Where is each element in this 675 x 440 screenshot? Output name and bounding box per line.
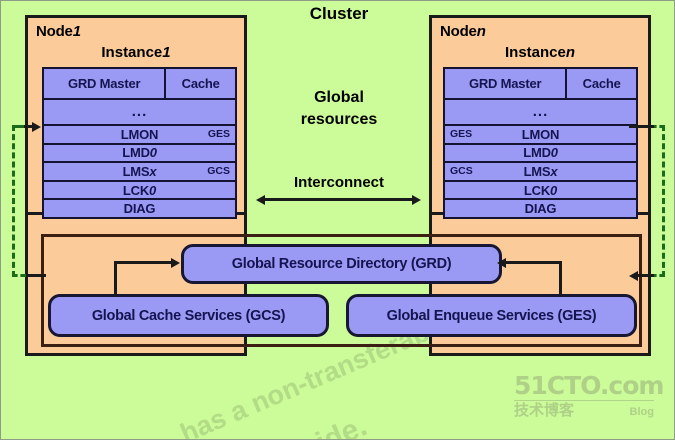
node-right-instance-prefix: Instance	[505, 44, 566, 61]
gcs-to-grd-arrowhead	[171, 258, 180, 268]
node-right-instance-suffix: n	[566, 44, 575, 61]
node-left-row-lmsx: LMSx GCS	[44, 163, 235, 182]
node-left-row-diag: DIAG	[44, 200, 235, 217]
node-left-diag-label: DIAG	[44, 201, 235, 216]
right-feedback-arrowhead-into-frame	[629, 271, 638, 281]
node-left-instance-suffix: 1	[162, 44, 170, 61]
interconnect-arrow-right	[412, 195, 421, 205]
gcs-to-grd-horizontal	[114, 261, 172, 264]
watermark-subtitle-en: Blog	[630, 407, 654, 418]
node-right-row-lmsx: LMSx GCS	[445, 163, 636, 182]
node-left-lmsx-tag-gcs: GCS	[207, 165, 230, 177]
left-feedback-dashed-bottom	[12, 274, 26, 277]
left-feedback-dashed-vertical	[12, 125, 15, 277]
node-right-row-diag: DIAG	[445, 200, 636, 217]
global-resources-label-line1: Global	[254, 89, 424, 107]
node-right-instance-label: Instancen	[432, 44, 648, 61]
watermark-rule	[514, 400, 654, 401]
ges-to-grd-vertical	[559, 261, 562, 297]
node-right-lck0-label: LCK0	[445, 183, 636, 198]
node-left-label-prefix: Node	[36, 23, 73, 40]
left-feedback-lead-bottom	[26, 274, 46, 277]
left-feedback-dashed-top	[12, 125, 24, 128]
node-left-ellipsis-text: ...	[44, 109, 235, 115]
node-right-ellipsis-text: ...	[445, 109, 636, 115]
node-right-process-stack: GRD Master Cache ... LMON GES LMD0 LMSx …	[443, 67, 638, 219]
node-left-row-grdmaster-cache: GRD Master Cache	[44, 69, 235, 100]
node-left-label-suffix: 1	[73, 23, 81, 40]
node-left-row-lck0: LCK0	[44, 182, 235, 201]
node-left-label: Node1	[36, 23, 81, 40]
node-right-cache-cell: Cache	[567, 69, 636, 98]
watermark-brand-text: 51CTO.com	[514, 373, 654, 398]
interconnect-label: Interconnect	[249, 174, 429, 191]
node-left-grd-master-cell: GRD Master	[44, 69, 166, 98]
node-right-diag-label: DIAG	[445, 201, 636, 216]
watermark-subtitle: 技术博客 Blog	[514, 403, 654, 418]
node-left-cache-cell: Cache	[166, 69, 235, 98]
node-left-lmon-tag-ges: GES	[208, 128, 230, 140]
watermark-subtitle-cn: 技术博客	[514, 403, 574, 418]
node-right-row-lck0: LCK0	[445, 182, 636, 201]
node-right-lmsx-tag-gcs: GCS	[450, 165, 473, 177]
node-right-row-lmon: LMON GES	[445, 126, 636, 145]
left-feedback-arrowhead-into-lmon	[32, 122, 41, 132]
gcs-to-grd-vertical	[114, 261, 117, 297]
interconnect-line	[264, 198, 414, 201]
node-left-process-stack: GRD Master Cache ... LMON GES LMD0 LMSx …	[42, 67, 237, 219]
right-feedback-dashed-vertical	[662, 125, 665, 277]
node-left-row-ellipsis: ...	[44, 100, 235, 126]
node-left-row-lmon: LMON GES	[44, 126, 235, 145]
node-right-label: Noden	[440, 23, 486, 40]
node-right-lmon-tag-ges: GES	[450, 128, 472, 140]
gcs-box[interactable]: Global Cache Services (GCS)	[48, 294, 329, 337]
node-left: Node1 Instance1 GRD Master Cache ... LMO…	[25, 15, 247, 215]
node-right-lmon-label: LMON	[445, 127, 636, 142]
watermark-diagonal-line2: t Guide.	[256, 409, 372, 440]
cluster-title: Cluster	[254, 4, 424, 24]
ges-to-grd-horizontal	[506, 261, 562, 264]
node-right-row-ellipsis: ...	[445, 100, 636, 126]
node-right-lmsx-label: LMSx	[445, 164, 636, 179]
node-right-label-suffix: n	[477, 23, 486, 40]
diagram-canvas: has a non-transferable license t Guide. …	[0, 0, 675, 440]
ges-to-grd-arrowhead	[497, 258, 506, 268]
node-right: Noden Instancen GRD Master Cache ... LMO…	[429, 15, 651, 215]
node-left-instance-prefix: Instance	[101, 44, 162, 61]
node-right-row-grdmaster-cache: GRD Master Cache	[445, 69, 636, 100]
node-left-instance-label: Instance1	[28, 44, 244, 61]
node-left-row-lmd0: LMD0	[44, 145, 235, 164]
node-right-label-prefix: Node	[440, 23, 477, 40]
watermark-51cto-logo: 51CTO.com 技术博客 Blog	[514, 373, 654, 418]
node-left-lmon-label: LMON	[44, 127, 235, 142]
node-right-grd-master-cell: GRD Master	[445, 69, 567, 98]
ges-box[interactable]: Global Enqueue Services (GES)	[346, 294, 637, 337]
interconnect-arrow-left	[256, 195, 265, 205]
node-left-lmd0-label: LMD0	[44, 145, 235, 160]
right-feedback-lead-bottom	[638, 274, 654, 277]
node-right-row-lmd0: LMD0	[445, 145, 636, 164]
node-left-lck0-label: LCK0	[44, 183, 235, 198]
node-right-lmd0-label: LMD0	[445, 145, 636, 160]
global-resources-label-line2: resources	[254, 111, 424, 129]
right-feedback-lead-top	[629, 125, 654, 128]
grd-box[interactable]: Global Resource Directory (GRD)	[181, 244, 502, 284]
